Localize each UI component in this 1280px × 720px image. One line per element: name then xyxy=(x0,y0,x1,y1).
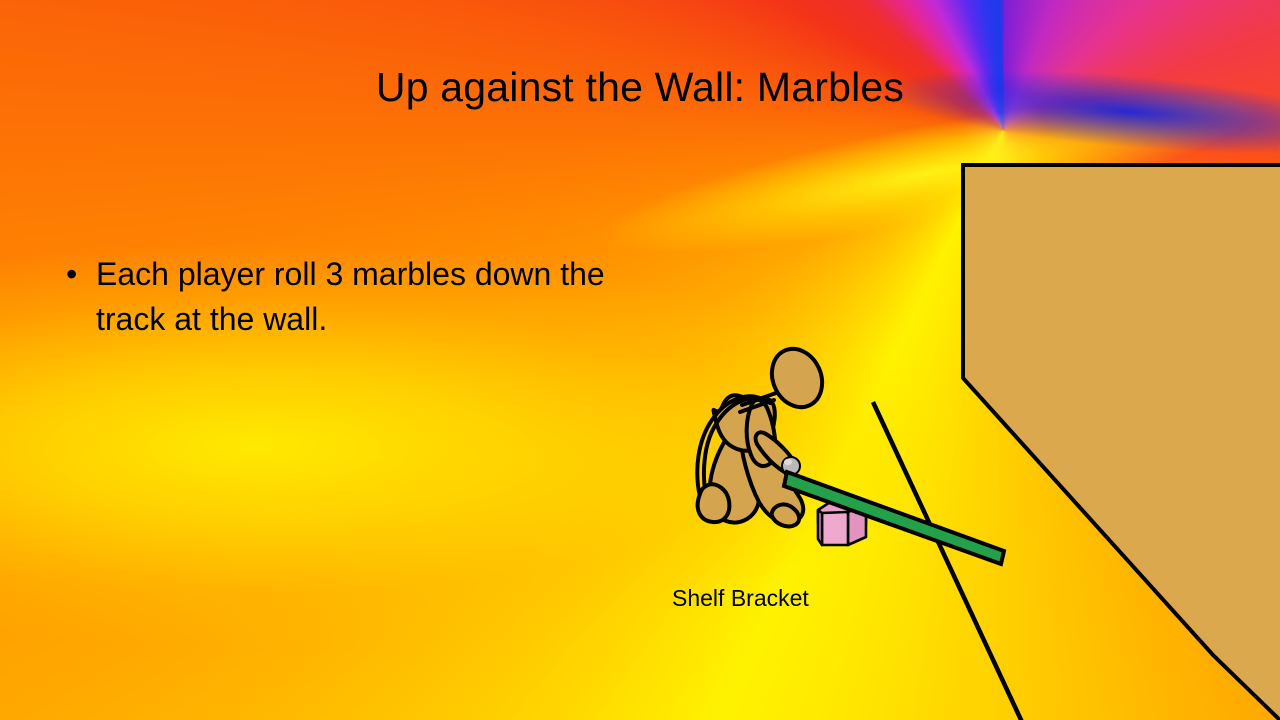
wall-shape xyxy=(963,165,1280,720)
slide-title: Up against the Wall: Marbles xyxy=(0,64,1280,111)
figure-front-foot xyxy=(772,504,799,526)
bullet-text: Each player roll 3 marbles down the trac… xyxy=(96,252,626,342)
shelf-bracket-label: Shelf Bracket xyxy=(672,585,809,612)
player-figure xyxy=(697,341,831,527)
bracket-left-face xyxy=(818,510,822,545)
figure-hip xyxy=(698,484,730,522)
bullet-glyph: • xyxy=(66,252,77,297)
bracket-front-face xyxy=(822,512,848,545)
slide-body: • Each player roll 3 marbles down the tr… xyxy=(66,252,626,342)
slide-canvas: Up against the Wall: Marbles • Each play… xyxy=(0,0,1280,720)
